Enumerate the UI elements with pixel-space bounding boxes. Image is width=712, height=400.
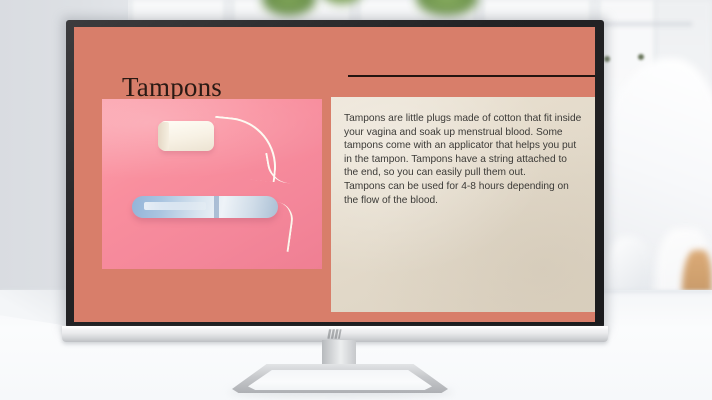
applicator-label xyxy=(144,202,206,210)
hp-logo-icon xyxy=(328,328,343,340)
cabinet-knob-icon xyxy=(638,54,644,60)
presentation-slide[interactable]: Tampons xyxy=(74,27,595,322)
slide-text-panel: Tampons are little plugs made of cotton … xyxy=(331,97,595,312)
monitor-screen[interactable]: Tampons xyxy=(74,27,595,322)
monitor-bezel: Tampons xyxy=(66,20,604,328)
title-rule xyxy=(348,75,595,77)
slide-title: Tampons xyxy=(122,74,222,101)
monitor: Tampons xyxy=(66,20,604,328)
slide-body-text: Tampons are little plugs made of cotton … xyxy=(331,97,595,207)
cotton-tampon-tip xyxy=(158,122,169,150)
screenshot-scene: Tampons xyxy=(0,0,712,400)
tampon-photo xyxy=(102,99,322,269)
applicator-band xyxy=(214,196,219,218)
applicator-tampon xyxy=(132,196,278,218)
monitor-stand-base xyxy=(232,364,448,393)
stand-base-inner xyxy=(248,370,432,390)
